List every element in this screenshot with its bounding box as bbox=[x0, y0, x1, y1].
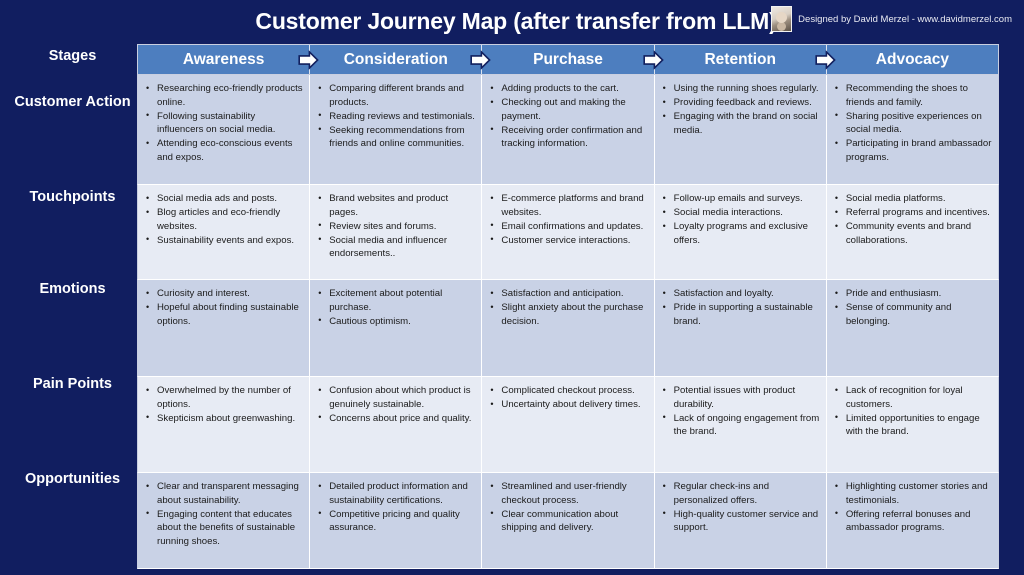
list-item: Lack of ongoing engagement from the bran… bbox=[659, 412, 820, 439]
journey-map-slide: Customer Journey Map (after transfer fro… bbox=[0, 0, 1024, 575]
cell-opportunities-purchase: Streamlined and user-friendly checkout p… bbox=[482, 473, 654, 568]
cell-touchpoints-consideration: Brand websites and product pages. Review… bbox=[310, 185, 482, 279]
bullet-list: Regular check-ins and personalized offer… bbox=[659, 480, 820, 535]
bullet-list: Confusion about which product is genuine… bbox=[314, 384, 475, 425]
bullet-list: Highlighting customer stories and testim… bbox=[831, 480, 992, 535]
list-item: Reading reviews and testimonials. bbox=[314, 110, 475, 124]
bullet-list: Potential issues with product durability… bbox=[659, 384, 820, 439]
list-item: Sustainability events and expos. bbox=[142, 234, 303, 248]
list-item: Social media and influencer endorsements… bbox=[314, 234, 475, 261]
list-item: Sense of community and belonging. bbox=[831, 301, 992, 328]
list-item: Social media platforms. bbox=[831, 192, 992, 206]
list-item: E-commerce platforms and brand websites. bbox=[486, 192, 647, 219]
bullet-list: Brand websites and product pages. Review… bbox=[314, 192, 475, 261]
list-item: Providing feedback and reviews. bbox=[659, 96, 820, 110]
table-row: Clear and transparent messaging about su… bbox=[137, 473, 999, 569]
table-row: Overwhelmed by the number of options. Sk… bbox=[137, 377, 999, 473]
cell-customer-action-retention: Using the running shoes regularly. Provi… bbox=[655, 75, 827, 184]
cell-pain-points-advocacy: Lack of recognition for loyal customers.… bbox=[827, 377, 998, 472]
bullet-list: Lack of recognition for loyal customers.… bbox=[831, 384, 992, 439]
list-item: Potential issues with product durability… bbox=[659, 384, 820, 411]
list-item: Satisfaction and anticipation. bbox=[486, 287, 647, 301]
list-item: Limited opportunities to engage with the… bbox=[831, 412, 992, 439]
bullet-list: Satisfaction and loyalty. Pride in suppo… bbox=[659, 287, 820, 328]
bullet-list: Complicated checkout process. Uncertaint… bbox=[486, 384, 647, 412]
list-item: Lack of recognition for loyal customers. bbox=[831, 384, 992, 411]
stage-header-row: Awareness Consideration Purchase bbox=[137, 44, 999, 75]
bullet-list: Social media ads and posts. Blog article… bbox=[142, 192, 303, 247]
stage-cell-retention[interactable]: Retention bbox=[655, 45, 827, 74]
bullet-list: Follow-up emails and surveys. Social med… bbox=[659, 192, 820, 247]
row-label-touchpoints: Touchpoints bbox=[8, 189, 137, 206]
bullet-list: Detailed product information and sustain… bbox=[314, 480, 475, 535]
list-item: Participating in brand ambassador progra… bbox=[831, 137, 992, 164]
bullet-list: Adding products to the cart. Checking ou… bbox=[486, 82, 647, 151]
table-row: Curiosity and interest. Hopeful about fi… bbox=[137, 280, 999, 377]
list-item: Confusion about which product is genuine… bbox=[314, 384, 475, 411]
cell-touchpoints-awareness: Social media ads and posts. Blog article… bbox=[138, 185, 310, 279]
cell-emotions-retention: Satisfaction and loyalty. Pride in suppo… bbox=[655, 280, 827, 376]
list-item: Review sites and forums. bbox=[314, 220, 475, 234]
cell-emotions-awareness: Curiosity and interest. Hopeful about fi… bbox=[138, 280, 310, 376]
list-item: Competitive pricing and quality assuranc… bbox=[314, 508, 475, 535]
list-item: Researching eco-friendly products online… bbox=[142, 82, 303, 109]
list-item: Offering referral bonuses and ambassador… bbox=[831, 508, 992, 535]
list-item: Skepticism about greenwashing. bbox=[142, 412, 303, 426]
row-label-customer-action: Customer Action bbox=[8, 93, 137, 111]
list-item: Community events and brand collaboration… bbox=[831, 220, 992, 247]
list-item: Satisfaction and loyalty. bbox=[659, 287, 820, 301]
list-item: Uncertainty about delivery times. bbox=[486, 398, 647, 412]
cell-opportunities-retention: Regular check-ins and personalized offer… bbox=[655, 473, 827, 568]
list-item: Complicated checkout process. bbox=[486, 384, 647, 398]
page-title: Customer Journey Map (after transfer fro… bbox=[255, 8, 776, 35]
list-item: Engaging content that educates about the… bbox=[142, 508, 303, 549]
list-item: Streamlined and user-friendly checkout p… bbox=[486, 480, 647, 507]
list-item: Slight anxiety about the purchase decisi… bbox=[486, 301, 647, 328]
list-item: Customer service interactions. bbox=[486, 234, 647, 248]
stage-label: Consideration bbox=[344, 51, 448, 69]
list-item: Attending eco-conscious events and expos… bbox=[142, 137, 303, 164]
list-item: Overwhelmed by the number of options. bbox=[142, 384, 303, 411]
cell-pain-points-purchase: Complicated checkout process. Uncertaint… bbox=[482, 377, 654, 472]
list-item: Concerns about price and quality. bbox=[314, 412, 475, 426]
list-item: High-quality customer service and suppor… bbox=[659, 508, 820, 535]
list-item: Following sustainability influencers on … bbox=[142, 110, 303, 137]
stage-label: Retention bbox=[704, 51, 775, 69]
stage-cell-purchase[interactable]: Purchase bbox=[482, 45, 654, 74]
table-row: Researching eco-friendly products online… bbox=[137, 75, 999, 185]
cell-emotions-purchase: Satisfaction and anticipation. Slight an… bbox=[482, 280, 654, 376]
bullet-list: Clear and transparent messaging about su… bbox=[142, 480, 303, 549]
cell-pain-points-awareness: Overwhelmed by the number of options. Sk… bbox=[138, 377, 310, 472]
list-item: Curiosity and interest. bbox=[142, 287, 303, 301]
row-label-emotions: Emotions bbox=[8, 281, 137, 298]
list-item: Brand websites and product pages. bbox=[314, 192, 475, 219]
list-item: Adding products to the cart. bbox=[486, 82, 647, 96]
person-photo-icon bbox=[771, 6, 792, 32]
cell-customer-action-advocacy: Recommending the shoes to friends and fa… bbox=[827, 75, 998, 184]
bullet-list: Comparing different brands and products.… bbox=[314, 82, 475, 151]
list-item: Recommending the shoes to friends and fa… bbox=[831, 82, 992, 109]
row-label-opportunities: Opportunities bbox=[8, 471, 137, 488]
list-item: Detailed product information and sustain… bbox=[314, 480, 475, 507]
bullet-list: Curiosity and interest. Hopeful about fi… bbox=[142, 287, 303, 328]
cell-customer-action-consideration: Comparing different brands and products.… bbox=[310, 75, 482, 184]
cell-opportunities-awareness: Clear and transparent messaging about su… bbox=[138, 473, 310, 568]
list-item: Excitement about potential purchase. bbox=[314, 287, 475, 314]
list-item: Checking out and making the payment. bbox=[486, 96, 647, 123]
cell-opportunities-advocacy: Highlighting customer stories and testim… bbox=[827, 473, 998, 568]
bullet-list: Social media platforms. Referral program… bbox=[831, 192, 992, 247]
list-item: Cautious optimism. bbox=[314, 315, 475, 329]
cell-pain-points-retention: Potential issues with product durability… bbox=[655, 377, 827, 472]
list-item: Follow-up emails and surveys. bbox=[659, 192, 820, 206]
list-item: Using the running shoes regularly. bbox=[659, 82, 820, 96]
bullet-list: Recommending the shoes to friends and fa… bbox=[831, 82, 992, 165]
cell-touchpoints-retention: Follow-up emails and surveys. Social med… bbox=[655, 185, 827, 279]
table-row: Social media ads and posts. Blog article… bbox=[137, 185, 999, 280]
bullet-list: Pride and enthusiasm. Sense of community… bbox=[831, 287, 992, 328]
list-item: Loyalty programs and exclusive offers. bbox=[659, 220, 820, 247]
stage-label: Purchase bbox=[533, 51, 603, 69]
row-label-rail: Stages Customer Action Touchpoints Emoti… bbox=[8, 38, 137, 575]
cell-touchpoints-purchase: E-commerce platforms and brand websites.… bbox=[482, 185, 654, 279]
list-item: Hopeful about finding sustainable option… bbox=[142, 301, 303, 328]
list-item: Receiving order confirmation and trackin… bbox=[486, 124, 647, 151]
cell-customer-action-awareness: Researching eco-friendly products online… bbox=[138, 75, 310, 184]
bullet-list: E-commerce platforms and brand websites.… bbox=[486, 192, 647, 247]
designer-credit-text: Designed by David Merzel - www.davidmerz… bbox=[798, 14, 1012, 25]
list-item: Blog articles and eco-friendly websites. bbox=[142, 206, 303, 233]
cell-customer-action-purchase: Adding products to the cart. Checking ou… bbox=[482, 75, 654, 184]
list-item: Pride in supporting a sustainable brand. bbox=[659, 301, 820, 328]
bullet-list: Excitement about potential purchase. Cau… bbox=[314, 287, 475, 328]
list-item: Email confirmations and updates. bbox=[486, 220, 647, 234]
designer-credit: Designed by David Merzel - www.davidmerz… bbox=[771, 6, 1012, 32]
list-item: Highlighting customer stories and testim… bbox=[831, 480, 992, 507]
bullet-list: Streamlined and user-friendly checkout p… bbox=[486, 480, 647, 535]
row-label-pain-points: Pain Points bbox=[8, 376, 137, 393]
list-item: Engaging with the brand on social media. bbox=[659, 110, 820, 137]
bullet-list: Overwhelmed by the number of options. Sk… bbox=[142, 384, 303, 425]
list-item: Social media interactions. bbox=[659, 206, 820, 220]
row-label-stages: Stages bbox=[8, 48, 137, 65]
stage-cell-consideration[interactable]: Consideration bbox=[310, 45, 482, 74]
list-item: Clear and transparent messaging about su… bbox=[142, 480, 303, 507]
stage-label: Advocacy bbox=[876, 51, 949, 69]
stage-cell-advocacy[interactable]: Advocacy bbox=[827, 45, 998, 74]
bullet-list: Using the running shoes regularly. Provi… bbox=[659, 82, 820, 137]
bullet-list: Satisfaction and anticipation. Slight an… bbox=[486, 287, 647, 328]
list-item: Sharing positive experiences on social m… bbox=[831, 110, 992, 137]
list-item: Referral programs and incentives. bbox=[831, 206, 992, 220]
cell-emotions-advocacy: Pride and enthusiasm. Sense of community… bbox=[827, 280, 998, 376]
stage-label: Awareness bbox=[183, 51, 265, 69]
cell-emotions-consideration: Excitement about potential purchase. Cau… bbox=[310, 280, 482, 376]
list-item: Comparing different brands and products. bbox=[314, 82, 475, 109]
list-item: Seeking recommendations from friends and… bbox=[314, 124, 475, 151]
cell-touchpoints-advocacy: Social media platforms. Referral program… bbox=[827, 185, 998, 279]
cell-opportunities-consideration: Detailed product information and sustain… bbox=[310, 473, 482, 568]
list-item: Clear communication about shipping and d… bbox=[486, 508, 647, 535]
cell-pain-points-consideration: Confusion about which product is genuine… bbox=[310, 377, 482, 472]
list-item: Regular check-ins and personalized offer… bbox=[659, 480, 820, 507]
list-item: Social media ads and posts. bbox=[142, 192, 303, 206]
stage-cell-awareness[interactable]: Awareness bbox=[138, 45, 310, 74]
bullet-list: Researching eco-friendly products online… bbox=[142, 82, 303, 165]
journey-map-grid: Awareness Consideration Purchase bbox=[137, 44, 999, 571]
list-item: Pride and enthusiasm. bbox=[831, 287, 992, 301]
